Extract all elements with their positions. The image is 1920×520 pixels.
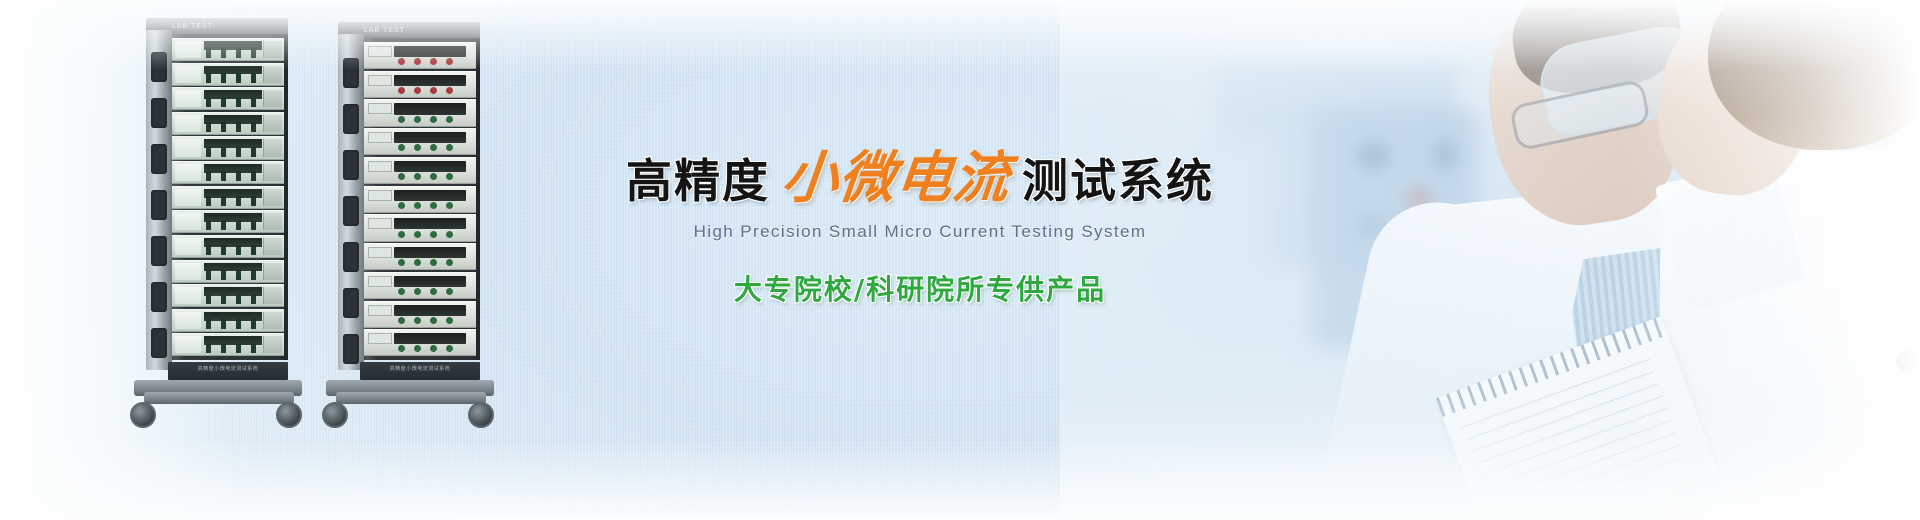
unit-button-row xyxy=(398,144,453,151)
unit-button xyxy=(414,173,421,180)
unit-button xyxy=(414,231,421,238)
rack-nameplate-text: 高精度小微电流测试系统 xyxy=(360,365,480,372)
unit-button-row xyxy=(398,259,453,266)
unit-button xyxy=(430,202,437,209)
unit-button xyxy=(398,144,405,151)
unit-display xyxy=(394,333,466,344)
headline-prefix: 高精度 xyxy=(626,158,770,204)
rack-instrument-unit xyxy=(364,128,476,155)
post-vent-slot xyxy=(343,104,359,134)
post-vent-slot xyxy=(151,98,167,128)
unit-button xyxy=(398,173,405,180)
unit-button xyxy=(398,231,405,238)
unit-badge xyxy=(368,247,392,258)
rack-nameplate-text: 高精度小微电流测试系统 xyxy=(168,365,288,372)
unit-display xyxy=(175,139,201,156)
unit-button xyxy=(414,317,421,324)
unit-button xyxy=(398,202,405,209)
unit-button-row xyxy=(398,173,453,180)
unit-button xyxy=(414,116,421,123)
banner-copy-block: 高精度 小微电流 测试系统 High Precision Small Micro… xyxy=(640,150,1200,308)
rack-instrument-unit xyxy=(364,272,476,299)
unit-display xyxy=(175,287,201,304)
unit-side-panel xyxy=(263,238,282,255)
unit-display xyxy=(175,238,201,255)
unit-button xyxy=(398,259,405,266)
unit-channel-ports xyxy=(206,73,260,83)
unit-display xyxy=(394,190,466,201)
unit-button xyxy=(414,259,421,266)
unit-button xyxy=(446,202,453,209)
unit-button xyxy=(446,231,453,238)
rack-base-frame-lower xyxy=(336,392,486,404)
rack-instrument-unit xyxy=(172,309,284,332)
unit-channel-ports xyxy=(206,147,260,157)
unit-button xyxy=(414,87,421,94)
unit-button xyxy=(398,317,405,324)
unit-display xyxy=(175,189,201,206)
unit-side-panel xyxy=(263,213,282,230)
rack-nameplate: 高精度小微电流测试系统 xyxy=(360,362,480,380)
unit-display xyxy=(394,103,466,114)
unit-button xyxy=(446,288,453,295)
rack-instrument-unit xyxy=(364,71,476,98)
unit-badge xyxy=(368,190,392,201)
unit-badge xyxy=(368,218,392,229)
rack-left-post xyxy=(146,30,172,370)
rack-instrument-unit xyxy=(172,210,284,233)
unit-button xyxy=(446,87,453,94)
unit-badge xyxy=(368,305,392,316)
post-vent-slot xyxy=(343,196,359,226)
unit-button xyxy=(430,231,437,238)
unit-display xyxy=(394,305,466,316)
unit-badge xyxy=(368,276,392,287)
banner-headline: 高精度 小微电流 测试系统 xyxy=(640,150,1200,206)
unit-badge xyxy=(368,161,392,172)
unit-button xyxy=(430,116,437,123)
unit-button xyxy=(430,345,437,352)
unit-button-row xyxy=(398,288,453,295)
unit-display xyxy=(175,90,201,107)
unit-badge xyxy=(368,132,392,143)
rack-instrument-unit xyxy=(172,333,284,356)
unit-button-row xyxy=(398,231,453,238)
unit-display xyxy=(394,161,466,172)
unit-badge xyxy=(368,75,392,86)
unit-button xyxy=(398,345,405,352)
rack-instrument-unit xyxy=(364,99,476,126)
unit-display xyxy=(175,115,201,132)
rack-caster-wheel xyxy=(276,402,302,428)
unit-button-row xyxy=(398,202,453,209)
unit-channel-ports xyxy=(206,270,260,280)
post-vent-slot xyxy=(343,288,359,318)
rack-instrument-unit xyxy=(172,87,284,110)
unit-display xyxy=(394,276,466,287)
rack-base-frame-lower xyxy=(144,392,294,404)
post-vent-slot xyxy=(343,242,359,272)
unit-button xyxy=(430,288,437,295)
unit-channel-ports xyxy=(206,344,260,354)
unit-button xyxy=(398,116,405,123)
rack-left-unit-stack xyxy=(172,38,284,358)
rack-instrument-unit xyxy=(172,136,284,159)
rack-right-unit-stack xyxy=(364,42,476,358)
banner-subtitle-english: High Precision Small Micro Current Testi… xyxy=(640,222,1200,242)
rack-caster-wheel xyxy=(322,402,348,428)
unit-button-row xyxy=(398,116,453,123)
unit-button xyxy=(430,87,437,94)
rack-instrument-unit xyxy=(172,112,284,135)
rack-instrument-unit xyxy=(364,329,476,356)
unit-display xyxy=(175,213,201,230)
unit-display xyxy=(394,218,466,229)
unit-side-panel xyxy=(263,115,282,132)
unit-side-panel xyxy=(263,312,282,329)
product-banner: LAB TEST 高精度小微电流测试系统 LAB TEST xyxy=(0,0,1920,520)
post-vent-slot xyxy=(151,282,167,312)
unit-button-row xyxy=(398,317,453,324)
rack-instrument-unit xyxy=(172,284,284,307)
rack-instrument-unit xyxy=(172,186,284,209)
unit-button xyxy=(446,345,453,352)
rack-left-post xyxy=(338,34,364,370)
post-vent-slot xyxy=(151,144,167,174)
unit-channel-ports xyxy=(206,245,260,255)
post-vent-slot xyxy=(151,190,167,220)
unit-button xyxy=(414,345,421,352)
unit-display xyxy=(394,75,466,86)
rack-instrument-unit xyxy=(364,214,476,241)
rack-instrument-unit xyxy=(364,186,476,213)
rack-instrument-unit xyxy=(172,161,284,184)
rack-instrument-unit xyxy=(364,157,476,184)
rack-instrument-unit xyxy=(172,260,284,283)
unit-button-row xyxy=(398,87,453,94)
rack-instrument-unit xyxy=(364,301,476,328)
rack-nameplate: 高精度小微电流测试系统 xyxy=(168,362,288,380)
unit-badge xyxy=(368,103,392,114)
unit-button xyxy=(430,144,437,151)
unit-side-panel xyxy=(263,263,282,280)
rack-cabinet-left: LAB TEST 高精度小微电流测试系统 xyxy=(128,18,288,418)
unit-side-panel xyxy=(263,90,282,107)
unit-channel-ports xyxy=(206,196,260,206)
unit-channel-ports xyxy=(206,221,260,231)
rack-instrument-unit xyxy=(172,235,284,258)
banner-tagline: 大专院校/科研院所专供产品 xyxy=(640,268,1200,308)
unit-display xyxy=(175,336,201,353)
headline-emphasis: 小微电流 xyxy=(771,150,1021,206)
unit-badge xyxy=(368,333,392,344)
unit-display xyxy=(394,247,466,258)
unit-button xyxy=(414,144,421,151)
unit-button xyxy=(446,173,453,180)
post-vent-slot xyxy=(151,328,167,358)
post-vent-slot xyxy=(343,334,359,364)
rack-caster-wheel xyxy=(468,402,494,428)
unit-button xyxy=(446,317,453,324)
unit-side-panel xyxy=(263,336,282,353)
unit-button xyxy=(430,317,437,324)
rack-caster-wheel xyxy=(130,402,156,428)
unit-button-row xyxy=(398,345,453,352)
rack-instrument-unit xyxy=(364,243,476,270)
unit-button xyxy=(414,288,421,295)
headline-suffix: 测试系统 xyxy=(1022,158,1214,204)
unit-side-panel xyxy=(263,164,282,181)
unit-button xyxy=(446,116,453,123)
unit-display xyxy=(394,132,466,143)
unit-button xyxy=(398,288,405,295)
unit-channel-ports xyxy=(206,295,260,305)
unit-button xyxy=(430,173,437,180)
unit-channel-ports xyxy=(206,319,260,329)
post-vent-slot xyxy=(151,236,167,266)
post-vent-slot xyxy=(343,150,359,180)
unit-button xyxy=(430,259,437,266)
unit-button xyxy=(398,87,405,94)
unit-channel-ports xyxy=(206,171,260,181)
rack-cabinet-right: LAB TEST 高精度小微电流测试系统 xyxy=(320,22,480,418)
unit-display xyxy=(175,263,201,280)
unit-side-panel xyxy=(263,189,282,206)
unit-display xyxy=(175,164,201,181)
unit-channel-ports xyxy=(206,98,260,108)
unit-side-panel xyxy=(263,139,282,156)
unit-button xyxy=(414,202,421,209)
unit-display xyxy=(175,312,201,329)
unit-button xyxy=(446,259,453,266)
unit-button xyxy=(446,144,453,151)
right-edge-fade xyxy=(1620,0,1920,520)
unit-channel-ports xyxy=(206,122,260,132)
unit-side-panel xyxy=(263,287,282,304)
